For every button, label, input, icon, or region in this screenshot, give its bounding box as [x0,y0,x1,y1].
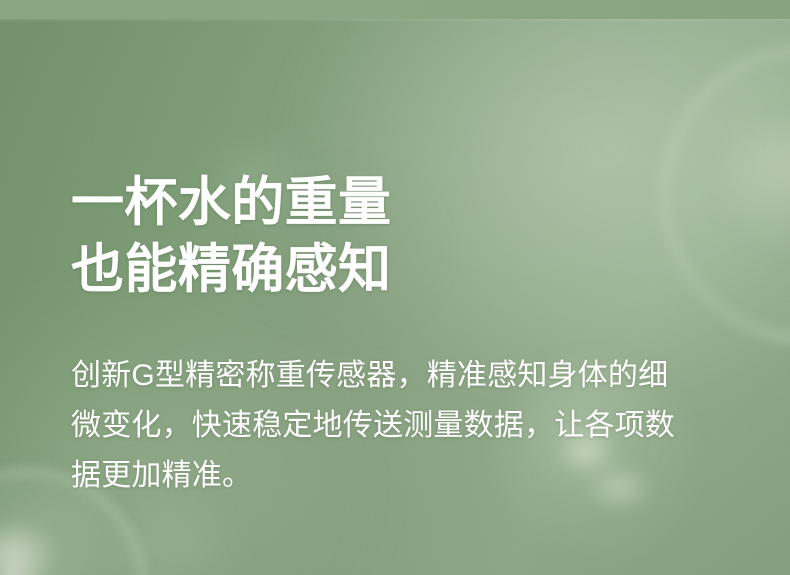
product-feature-banner: 一杯水的重量也能精确感知 创新G型精密称重传感器，精准感知身体的细微变化，快速稳… [0,0,790,575]
headline-line-1: 一杯水的重量 [71,169,691,236]
headline-line-2: 也能精确感知 [71,236,691,303]
body-paragraph: 创新G型精密称重传感器，精准感知身体的细微变化，快速稳定地传送测量数据，让各项数… [71,351,681,501]
headline: 一杯水的重量也能精确感知 [71,169,691,303]
copy-block: 一杯水的重量也能精确感知 创新G型精密称重传感器，精准感知身体的细微变化，快速稳… [71,0,691,575]
